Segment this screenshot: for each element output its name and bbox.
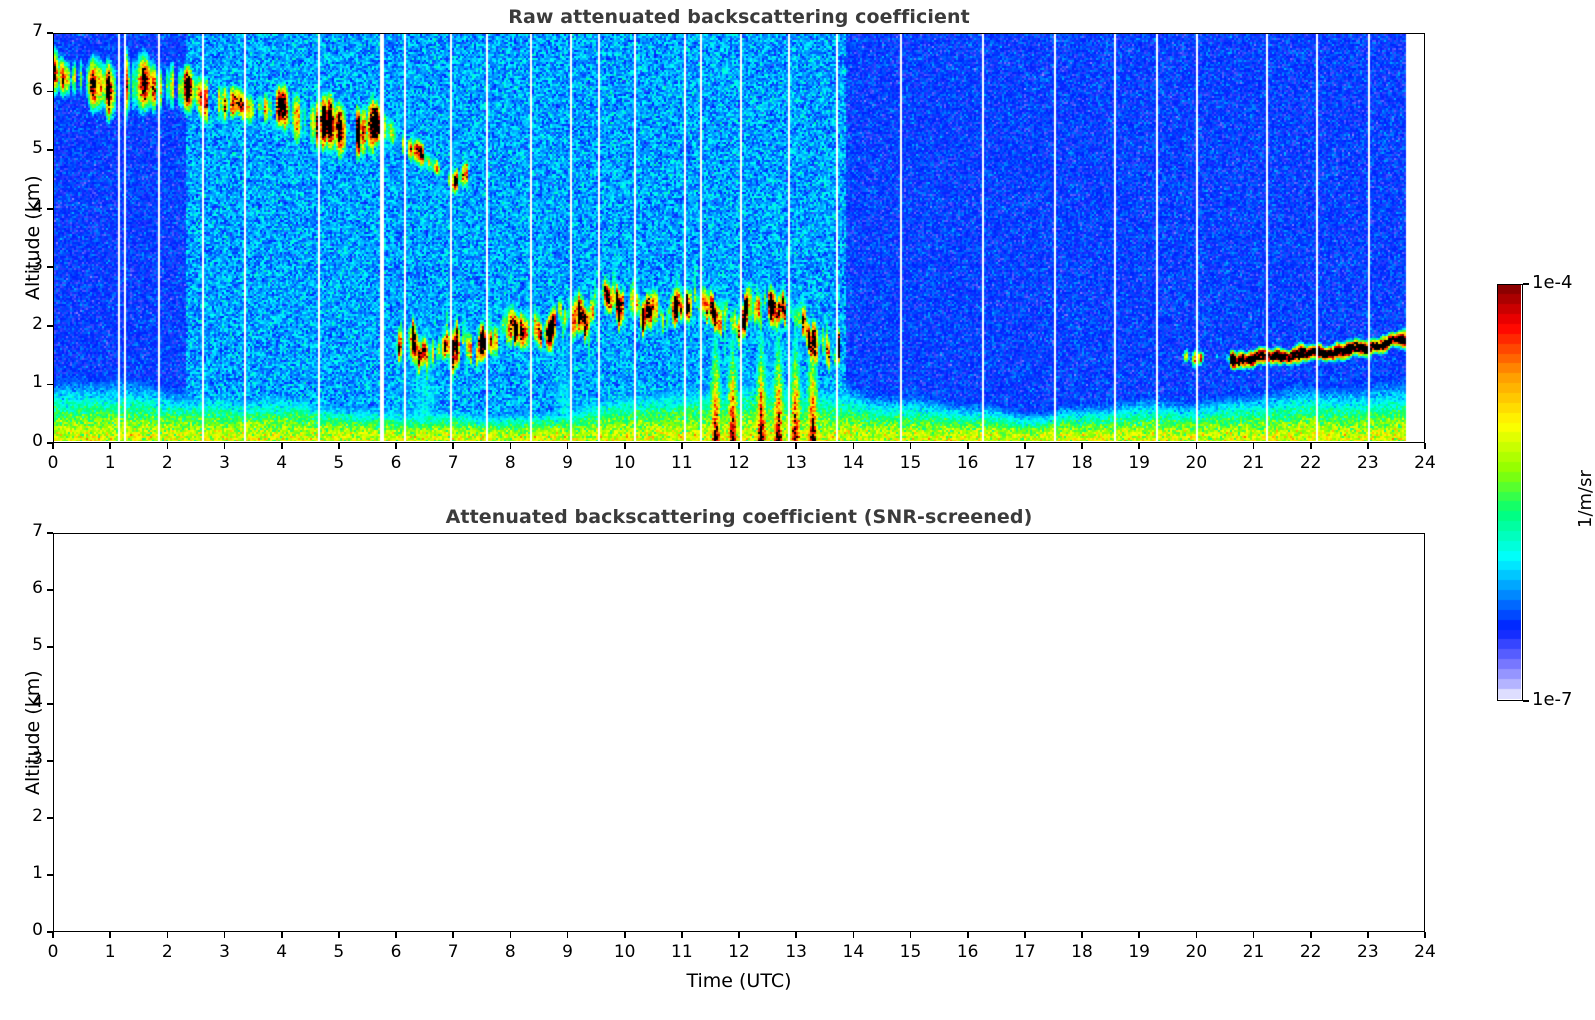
axis-tick (47, 760, 53, 762)
axis-tick-label: 7 (7, 21, 43, 41)
axis-tick (567, 443, 569, 449)
axis-tick (109, 932, 111, 938)
x-axis-label: Time (UTC) (53, 970, 1425, 992)
axis-tick (510, 443, 512, 449)
axis-tick-label: 2 (7, 314, 43, 334)
top-heatmap-plot (53, 33, 1425, 443)
top-panel-title: Raw attenuated backscattering coefficien… (53, 6, 1425, 28)
axis-tick-label: 18 (1062, 453, 1102, 473)
axis-tick (1367, 932, 1369, 938)
axis-tick-label: 7 (7, 521, 43, 541)
axis-tick-label: 24 (1405, 942, 1445, 962)
axis-tick-label: 9 (548, 942, 588, 962)
axis-tick-label: 6 (7, 80, 43, 100)
axis-tick (853, 932, 855, 938)
axis-tick-label: 5 (7, 635, 43, 655)
axis-tick (1424, 443, 1426, 449)
axis-tick (967, 932, 969, 938)
axis-tick (47, 532, 53, 534)
axis-tick (47, 817, 53, 819)
axis-tick-label: 4 (262, 453, 302, 473)
axis-tick-label: 17 (1005, 942, 1045, 962)
axis-tick-label: 0 (33, 453, 73, 473)
axis-tick (338, 443, 340, 449)
axis-tick-label: 21 (1234, 942, 1274, 962)
axis-tick-label: 11 (662, 942, 702, 962)
axis-tick (1310, 932, 1312, 938)
axis-tick-label: 10 (605, 942, 645, 962)
axis-tick (47, 91, 53, 93)
axis-tick (167, 443, 169, 449)
axis-tick (795, 443, 797, 449)
axis-tick (624, 932, 626, 938)
axis-tick (1081, 443, 1083, 449)
axis-tick-label: 13 (776, 942, 816, 962)
axis-tick-label: 5 (319, 942, 359, 962)
axis-tick (910, 443, 912, 449)
axis-tick-label: 22 (1291, 942, 1331, 962)
axis-tick-label: 6 (7, 578, 43, 598)
axis-tick (52, 932, 54, 938)
axis-tick (1253, 932, 1255, 938)
axis-tick (452, 932, 454, 938)
axis-tick-label: 21 (1234, 453, 1274, 473)
axis-tick-label: 8 (490, 942, 530, 962)
axis-tick-label: 19 (1119, 942, 1159, 962)
axis-tick-label: 8 (490, 453, 530, 473)
figure-root: Raw attenuated backscattering coefficien… (0, 0, 1595, 1020)
axis-tick (1081, 932, 1083, 938)
axis-tick (567, 932, 569, 938)
axis-tick-label: 0 (33, 942, 73, 962)
axis-tick-label: 0 (7, 431, 43, 451)
axis-tick-label: 4 (7, 197, 43, 217)
axis-tick-label: 10 (605, 453, 645, 473)
axis-tick (681, 932, 683, 938)
bottom-panel-title: Attenuated backscattering coefficient (S… (53, 506, 1425, 528)
axis-tick-label: 1 (90, 453, 130, 473)
axis-tick (395, 443, 397, 449)
axis-tick (224, 932, 226, 938)
axis-tick (47, 703, 53, 705)
axis-tick-label: 12 (719, 942, 759, 962)
axis-tick-label: 15 (891, 453, 931, 473)
axis-tick (452, 443, 454, 449)
axis-tick (1523, 283, 1529, 285)
axis-tick (47, 384, 53, 386)
colorbar (1497, 284, 1523, 701)
axis-tick (738, 932, 740, 938)
axis-tick (47, 208, 53, 210)
axis-tick-label: 2 (7, 806, 43, 826)
axis-tick-label: 1 (90, 942, 130, 962)
axis-tick (1024, 443, 1026, 449)
colorbar-min-label: 1e-7 (1532, 689, 1572, 710)
axis-tick (224, 443, 226, 449)
axis-tick-label: 3 (7, 749, 43, 769)
axis-tick-label: 5 (319, 453, 359, 473)
bottom-y-axis-label: Altitude (km) (22, 670, 44, 795)
axis-tick-label: 20 (1176, 942, 1216, 962)
axis-tick (47, 325, 53, 327)
axis-tick-label: 2 (147, 942, 187, 962)
axis-tick-label: 2 (147, 453, 187, 473)
axis-tick-label: 0 (7, 920, 43, 940)
axis-tick-label: 3 (7, 255, 43, 275)
axis-tick (1024, 932, 1026, 938)
axis-tick (1196, 932, 1198, 938)
axis-tick (1196, 443, 1198, 449)
top-heatmap-canvas (54, 34, 1423, 441)
axis-tick (910, 932, 912, 938)
axis-tick (47, 442, 53, 444)
axis-tick (281, 932, 283, 938)
axis-tick (1523, 700, 1529, 702)
axis-tick (281, 443, 283, 449)
axis-tick-label: 24 (1405, 453, 1445, 473)
axis-tick-label: 9 (548, 453, 588, 473)
axis-tick-label: 23 (1348, 942, 1388, 962)
bottom-heatmap-canvas (54, 534, 1423, 930)
axis-tick (1310, 443, 1312, 449)
axis-tick-label: 14 (833, 453, 873, 473)
axis-tick-label: 19 (1119, 453, 1159, 473)
axis-tick-label: 18 (1062, 942, 1102, 962)
axis-tick (167, 932, 169, 938)
axis-tick-label: 16 (948, 453, 988, 473)
axis-tick (47, 32, 53, 34)
axis-tick-label: 4 (262, 942, 302, 962)
axis-tick-label: 22 (1291, 453, 1331, 473)
axis-tick-label: 7 (433, 453, 473, 473)
top-y-axis-label: Altitude (km) (22, 175, 44, 300)
axis-tick-label: 17 (1005, 453, 1045, 473)
axis-tick-label: 15 (891, 942, 931, 962)
colorbar-gradient (1498, 285, 1521, 699)
axis-tick (47, 931, 53, 933)
axis-tick (510, 932, 512, 938)
axis-tick-label: 20 (1176, 453, 1216, 473)
axis-tick (624, 443, 626, 449)
bottom-heatmap-plot (53, 533, 1425, 932)
axis-tick (681, 443, 683, 449)
axis-tick (795, 932, 797, 938)
axis-tick-label: 5 (7, 138, 43, 158)
axis-tick (1253, 443, 1255, 449)
axis-tick (47, 149, 53, 151)
axis-tick (738, 443, 740, 449)
axis-tick-label: 6 (376, 942, 416, 962)
axis-tick-label: 13 (776, 453, 816, 473)
axis-tick (338, 932, 340, 938)
axis-tick (395, 932, 397, 938)
axis-tick (967, 443, 969, 449)
axis-tick (1138, 932, 1140, 938)
colorbar-max-label: 1e-4 (1532, 272, 1572, 293)
axis-tick-label: 23 (1348, 453, 1388, 473)
axis-tick (47, 874, 53, 876)
axis-tick-label: 14 (833, 942, 873, 962)
axis-tick (52, 443, 54, 449)
axis-tick-label: 1 (7, 863, 43, 883)
axis-tick-label: 1 (7, 372, 43, 392)
axis-tick-label: 3 (205, 942, 245, 962)
axis-tick-label: 3 (205, 453, 245, 473)
axis-tick-label: 6 (376, 453, 416, 473)
axis-tick (1367, 443, 1369, 449)
axis-tick (109, 443, 111, 449)
axis-tick (1424, 932, 1426, 938)
axis-tick-label: 7 (433, 942, 473, 962)
axis-tick-label: 4 (7, 692, 43, 712)
axis-tick (47, 589, 53, 591)
axis-tick-label: 16 (948, 942, 988, 962)
axis-tick (47, 266, 53, 268)
axis-tick (853, 443, 855, 449)
axis-tick-label: 11 (662, 453, 702, 473)
colorbar-unit-label: 1/m/sr (1575, 470, 1595, 528)
axis-tick-label: 12 (719, 453, 759, 473)
axis-tick (47, 646, 53, 648)
axis-tick (1138, 443, 1140, 449)
